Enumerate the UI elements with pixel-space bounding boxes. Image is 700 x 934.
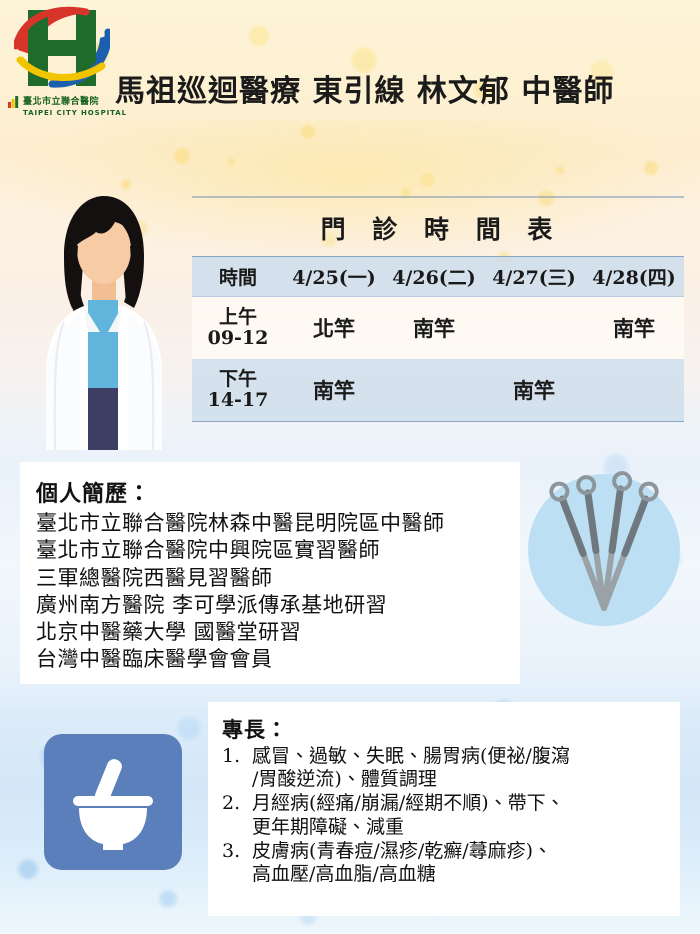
schedule-cell-afternoon-3 xyxy=(584,359,684,422)
specialty-item-body: 月經病(經痛/崩漏/經期不順)、帶下、 更年期障礙、減重 xyxy=(252,792,670,838)
mortar-and-pestle-icon xyxy=(63,752,163,852)
female-doctor-illustration xyxy=(22,182,182,472)
acupuncture-needles-icon xyxy=(512,458,692,633)
schedule-day-header-1: 4/26(二) xyxy=(384,257,484,297)
specialty-list: 1. 感冒、過敏、失眠、腸胃病(便祕/腹瀉 /胃酸逆流)、體質調理 2. 月經病… xyxy=(222,745,670,886)
schedule-header-row: 時間 4/25(一) 4/26(二) 4/27(三) 4/28(四) xyxy=(192,257,684,297)
schedule-cell-morning-3: 南竿 xyxy=(584,297,684,360)
schedule-top-rule xyxy=(192,196,684,198)
schedule-time-header: 時間 xyxy=(192,257,284,297)
list-item: 2. 月經病(經痛/崩漏/經期不順)、帶下、 更年期障礙、減重 xyxy=(222,792,670,838)
schedule-period-morning-hours: 09-12 xyxy=(192,328,284,349)
schedule-period-afternoon-name: 下午 xyxy=(192,369,284,390)
resume-line: 台灣中醫臨床醫學會會員 xyxy=(36,646,504,673)
schedule-row-morning: 上午 09-12 北竿 南竿 南竿 xyxy=(192,297,684,360)
specialty-item-number: 3. xyxy=(222,840,246,863)
schedule-table: 時間 4/25(一) 4/26(二) 4/27(三) 4/28(四) 上午 09… xyxy=(192,256,684,422)
list-item: 3. 皮膚病(青春痘/濕疹/乾癬/蕁麻疹)、 高血壓/高血脂/高血糖 xyxy=(222,840,670,886)
schedule-cell-morning-2 xyxy=(484,297,584,360)
schedule-day-header-0: 4/25(一) xyxy=(284,257,384,297)
schedule-cell-morning-1: 南竿 xyxy=(384,297,484,360)
specialty-item-number: 1. xyxy=(222,745,246,768)
schedule-day-header-2: 4/27(三) xyxy=(484,257,584,297)
specialty-item-line: 皮膚病(青春痘/濕疹/乾癬/蕁麻疹)、 xyxy=(252,840,670,863)
hospital-name-en: TAIPEI CITY HOSPITAL xyxy=(23,109,116,118)
specialty-heading: 專長： xyxy=(222,714,670,744)
resume-card: 個人簡歷： 臺北市立聯合醫院林森中醫昆明院區中醫師 臺北市立聯合醫院中興院區實習… xyxy=(20,462,520,684)
page-title: 馬祖巡迴醫療 東引線 林文郁 中醫師 xyxy=(115,66,690,110)
schedule-period-afternoon-hours: 14-17 xyxy=(192,390,284,411)
schedule-table-head: 時間 4/25(一) 4/26(二) 4/27(三) 4/28(四) xyxy=(192,257,684,297)
schedule-period-morning: 上午 09-12 xyxy=(192,297,284,360)
list-item: 1. 感冒、過敏、失眠、腸胃病(便祕/腹瀉 /胃酸逆流)、體質調理 xyxy=(222,745,670,791)
specialty-item-line: 月經病(經痛/崩漏/經期不順)、帶下、 xyxy=(252,792,670,815)
resume-heading: 個人簡歷： xyxy=(36,476,504,508)
schedule-period-afternoon: 下午 14-17 xyxy=(192,359,284,422)
specialty-item-line: 高血壓/高血脂/高血糖 xyxy=(252,863,670,886)
resume-line: 三軍總醫院西醫見習醫師 xyxy=(36,565,504,592)
clinic-schedule-poster: 臺北市立聯合醫院 TAIPEI CITY HOSPITAL 馬祖巡迴醫療 東引線… xyxy=(0,0,700,934)
specialty-item-body: 皮膚病(青春痘/濕疹/乾癬/蕁麻疹)、 高血壓/高血脂/高血糖 xyxy=(252,840,670,886)
schedule-cell-morning-0: 北竿 xyxy=(284,297,384,360)
specialty-item-body: 感冒、過敏、失眠、腸胃病(便祕/腹瀉 /胃酸逆流)、體質調理 xyxy=(252,745,670,791)
specialty-item-line: 更年期障礙、減重 xyxy=(252,816,670,839)
schedule-section: 門 診 時 間 表 時間 4/25(一) 4/26(二) 4/27(三) 4/2… xyxy=(192,196,684,422)
schedule-cell-afternoon-2: 南竿 xyxy=(484,359,584,422)
specialty-item-line: /胃酸逆流)、體質調理 xyxy=(252,768,670,791)
resume-line: 臺北市立聯合醫院中興院區實習醫師 xyxy=(36,537,504,564)
hospital-h-logo-icon xyxy=(14,6,110,90)
schedule-cell-afternoon-0: 南竿 xyxy=(284,359,384,422)
specialty-item-number: 2. xyxy=(222,792,246,815)
hospital-logo-small-mark-icon xyxy=(8,96,20,109)
resume-line: 北京中醫藥大學 國醫堂研習 xyxy=(36,619,504,646)
schedule-title: 門 診 時 間 表 xyxy=(192,198,684,256)
hospital-logo: 臺北市立聯合醫院 TAIPEI CITY HOSPITAL xyxy=(6,6,118,122)
schedule-table-body: 上午 09-12 北竿 南竿 南竿 下午 14-17 南竿 南竿 xyxy=(192,297,684,422)
schedule-cell-afternoon-1 xyxy=(384,359,484,422)
resume-line: 臺北市立聯合醫院林森中醫昆明院區中醫師 xyxy=(36,510,504,537)
schedule-period-morning-name: 上午 xyxy=(192,307,284,328)
mortar-and-pestle-badge xyxy=(44,734,182,870)
schedule-day-header-3: 4/28(四) xyxy=(584,257,684,297)
specialty-item-line: 感冒、過敏、失眠、腸胃病(便祕/腹瀉 xyxy=(252,745,670,768)
resume-line: 廣州南方醫院 李可學派傳承基地研習 xyxy=(36,592,504,619)
hospital-name-zh: 臺北市立聯合醫院 xyxy=(23,97,99,108)
specialty-card: 專長： 1. 感冒、過敏、失眠、腸胃病(便祕/腹瀉 /胃酸逆流)、體質調理 2.… xyxy=(208,702,680,916)
schedule-row-afternoon: 下午 14-17 南竿 南竿 xyxy=(192,359,684,422)
